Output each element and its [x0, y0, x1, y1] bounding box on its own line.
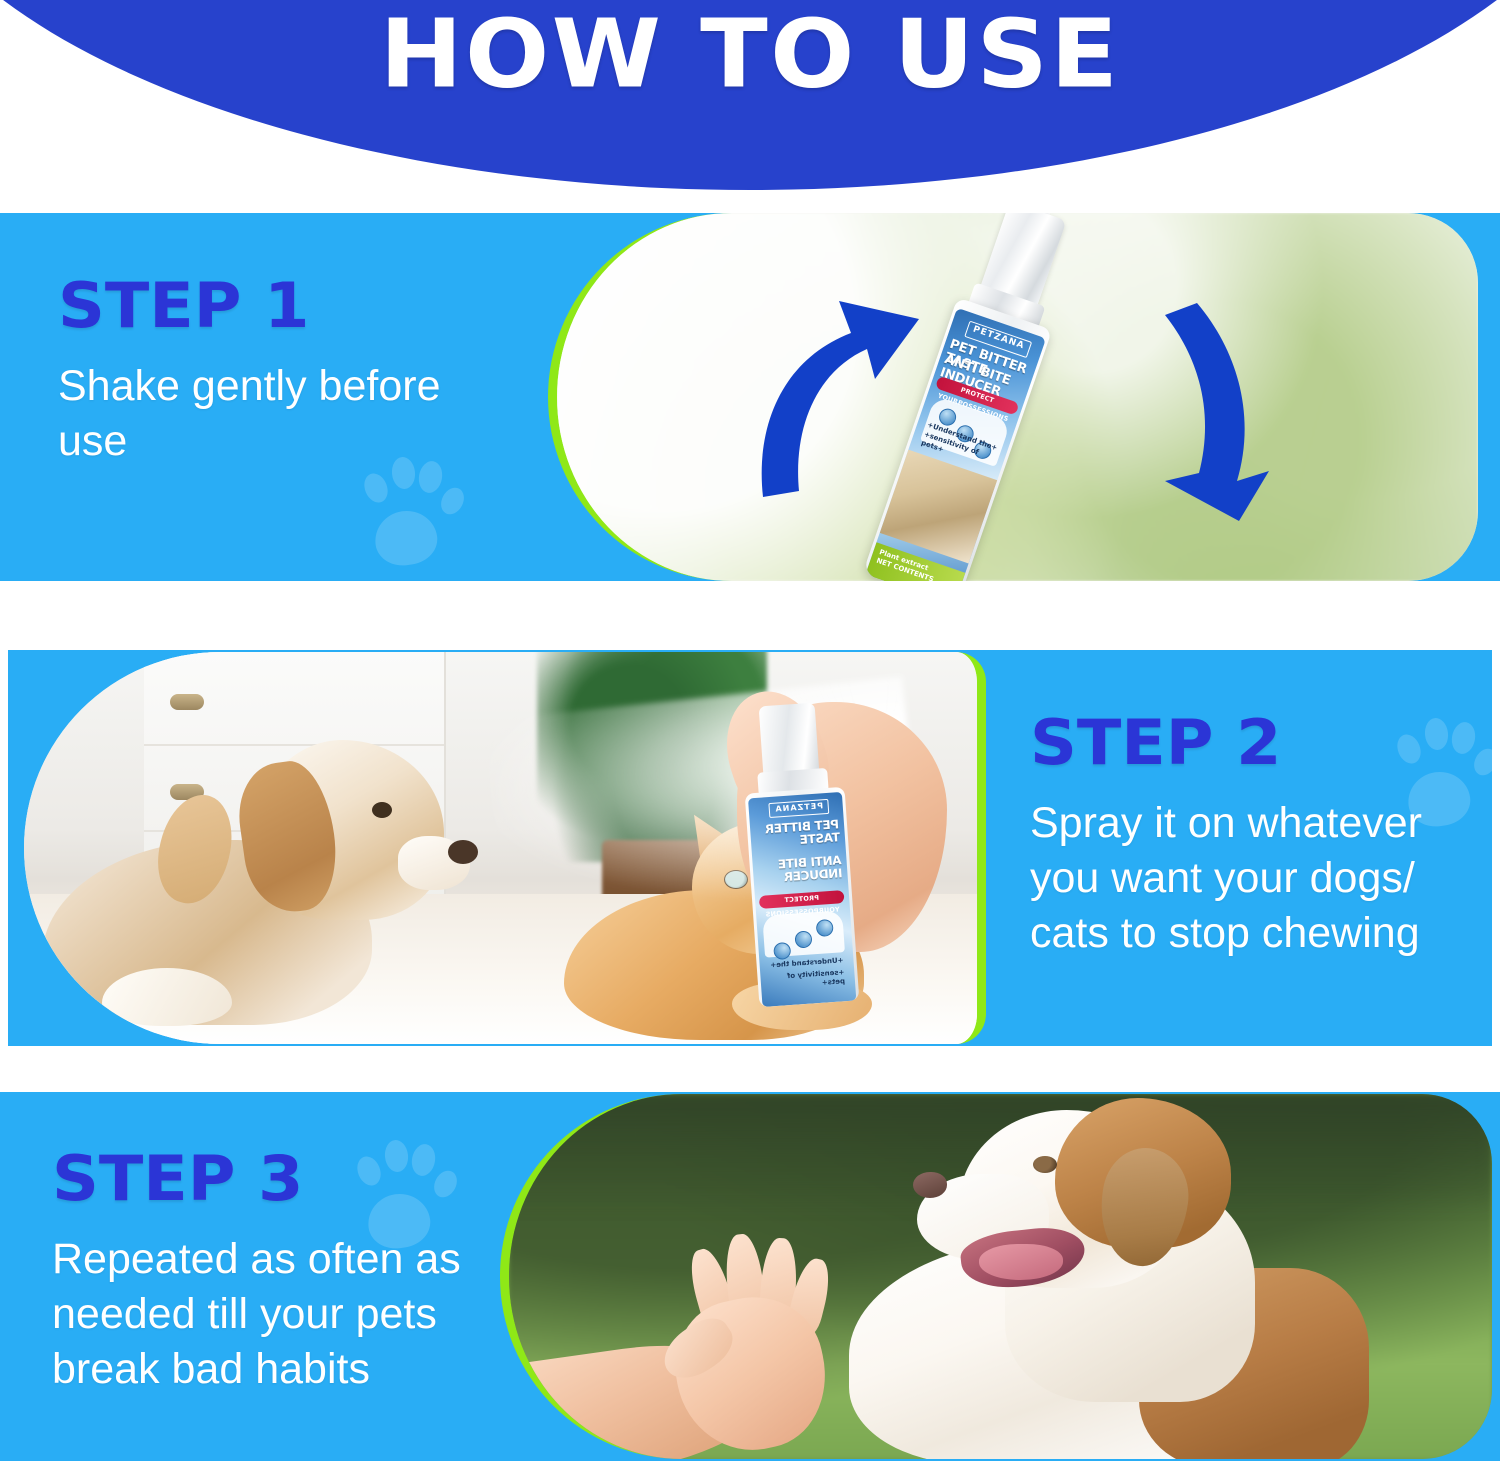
paw-print-watermark: [355, 451, 475, 576]
step-3-body: Repeated as often as needed till your pe…: [52, 1232, 522, 1397]
dog-nose: [448, 840, 478, 864]
product-benefit-line-2: +sensitivity of pets+: [766, 968, 845, 991]
step-2-heading: STEP 2: [1030, 712, 1500, 774]
step-2-photo: PETZANA PET BITTER TASTE ANTI BITE INDUC…: [24, 652, 986, 1044]
high-five-hand: [509, 1254, 929, 1459]
bottle-body: PETZANA PET BITTER TASTE ANTI BITE INDUC…: [745, 787, 860, 1007]
step-2-text: STEP 2 Spray it on whatever you want you…: [1030, 712, 1482, 961]
step-3-text: STEP 3 Repeated as often as needed till …: [52, 1148, 522, 1397]
step-1-text: STEP 1 Shake gently before use: [58, 275, 488, 469]
dog-nose: [913, 1172, 947, 1198]
feature-icon-2: [794, 930, 812, 948]
beagle-dog: [42, 710, 492, 1040]
product-title-line-2: ANTI BITE INDUCER: [756, 854, 843, 886]
paw-toe-icon: [360, 470, 392, 506]
product-banner: PROTECT YOURPOSSESSIONS: [759, 890, 845, 909]
product-bottle-sprayed: PETZANA PET BITTER TASTE ANTI BITE INDUC…: [731, 700, 870, 1008]
dog-tongue: [979, 1244, 1063, 1280]
step-1-photo: PETZANA PET BITTER TASTE ANTI BITE INDUC…: [548, 213, 1478, 581]
product-title-line-1: PET BITTER TASTE: [754, 818, 841, 850]
cabinet-knob: [170, 694, 204, 710]
step-2-body: Spray it on whatever you want your dogs/…: [1030, 796, 1482, 961]
header-banner: HOW TO USE: [0, 0, 1500, 190]
curved-arrow-down-icon: [1145, 295, 1345, 525]
feature-icon-3: [773, 942, 791, 960]
page-title: HOW TO USE: [0, 7, 1500, 101]
brand-badge: PETZANA: [768, 799, 829, 818]
feature-icon-1: [816, 919, 834, 937]
dog-eye: [372, 802, 392, 818]
dog-eye: [1033, 1156, 1057, 1173]
step-1-body: Shake gently before use: [58, 359, 488, 469]
step-3-photo: [500, 1094, 1492, 1459]
paw-main-pad-icon: [372, 507, 441, 569]
product-feature-icons: [762, 910, 845, 957]
step-3-heading: STEP 3: [52, 1148, 546, 1210]
product-label-mirrored: PETZANA PET BITTER TASTE ANTI BITE INDUC…: [748, 792, 856, 1007]
step-1-heading: STEP 1: [58, 275, 509, 337]
paw-toe-icon: [437, 484, 469, 519]
